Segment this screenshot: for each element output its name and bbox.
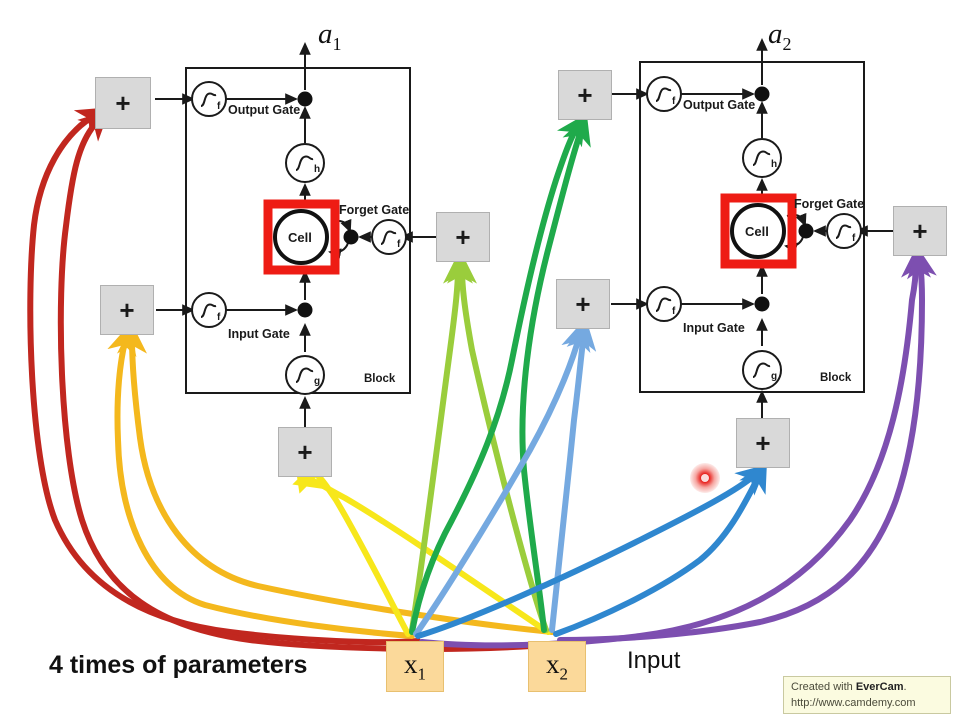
input-box-x2[interactable]: x2	[528, 641, 586, 692]
output-gate-1-circle	[192, 82, 226, 116]
plus-glyph: +	[297, 439, 312, 465]
input-gate-1-circle	[192, 293, 226, 327]
lstm-diagram-canvas: + + + + + + + + Output Gate Input Gate F…	[0, 0, 960, 720]
plus-glyph: +	[119, 297, 134, 323]
x1-sub: 1	[418, 664, 427, 683]
g-activation-2-circle	[743, 351, 781, 389]
plus-forget-gate-2[interactable]: +	[893, 206, 947, 256]
curve-x2-to-input-gate-1	[132, 338, 552, 632]
a2-base: a	[768, 18, 783, 50]
g-subscript-1: g	[314, 376, 320, 387]
plus-glyph: +	[912, 218, 927, 244]
plus-glyph: +	[115, 90, 130, 116]
plus-input-gate-2[interactable]: +	[556, 279, 610, 329]
plus-output-gate-1[interactable]: +	[95, 77, 151, 129]
watermark-url: http://www.camdemy.com	[791, 696, 944, 712]
watermark-brand: EverCam	[856, 681, 904, 693]
forget-gate-1-label: Forget Gate	[339, 203, 409, 217]
cell-1-label: Cell	[288, 230, 312, 245]
f-subscript-output-1: f	[217, 101, 220, 112]
input-gate-1-label: Input Gate	[228, 327, 290, 341]
block-2-label: Block	[820, 372, 851, 384]
input-text-label: Input	[627, 647, 680, 675]
input-box-x1[interactable]: x1	[386, 641, 444, 692]
block-1-label: Block	[364, 373, 395, 385]
plus-cell-input-1[interactable]: +	[278, 427, 332, 477]
f-subscript-forget-2: f	[852, 233, 855, 244]
laser-pointer-dot	[690, 463, 720, 493]
curve-x2-to-cell-input-2	[556, 474, 760, 634]
x2-sub: 2	[560, 664, 569, 683]
output-gate-2-circle	[647, 77, 681, 111]
x2-label: x2	[546, 649, 568, 684]
plus-glyph: +	[455, 224, 470, 250]
h-activation-1-circle	[286, 144, 324, 182]
plus-forget-gate-1[interactable]: +	[436, 212, 490, 262]
g-activation-1-circle	[286, 356, 324, 394]
plus-input-gate-1[interactable]: +	[100, 285, 154, 335]
h-activation-2-circle	[743, 139, 781, 177]
f-subscript-input-1: f	[217, 312, 220, 323]
watermark-suffix: .	[904, 681, 907, 693]
watermark-line-1: Created with EverCam.	[791, 680, 944, 696]
output-label-a2: a2	[768, 18, 792, 55]
x1-base: x	[404, 649, 418, 679]
plus-glyph: +	[577, 82, 592, 108]
f-subscript-forget-1: f	[397, 239, 400, 250]
input-gate-2-circle	[647, 287, 681, 321]
cell-2-label: Cell	[745, 224, 769, 239]
a1-base: a	[318, 18, 333, 50]
plus-output-gate-2[interactable]: +	[558, 70, 612, 120]
curve-x1-to-cell-input-1	[304, 472, 408, 634]
output-label-a1: a1	[318, 18, 342, 55]
curve-x1-to-output-gate-1	[30, 115, 418, 642]
forget-gate-2-circle	[827, 214, 861, 248]
g-subscript-2: g	[771, 371, 777, 382]
four-times-parameters-text: 4 times of parameters	[49, 651, 307, 680]
forget-gate-1-circle	[372, 220, 406, 254]
h-subscript-1: h	[314, 164, 320, 175]
plus-glyph: +	[575, 291, 590, 317]
a1-sub: 1	[333, 34, 342, 54]
x1-label: x1	[404, 649, 426, 684]
watermark-prefix: Created with	[791, 681, 856, 693]
input-gate-2-label: Input Gate	[683, 321, 745, 335]
evercam-watermark: Created with EverCam. http://www.camdemy…	[783, 676, 951, 714]
curve-x2-to-output-gate-2	[522, 128, 582, 630]
curve-x1-to-output-gate-2	[412, 126, 578, 632]
x2-base: x	[546, 649, 560, 679]
f-subscript-output-2: f	[672, 96, 675, 107]
forget-gate-2-label: Forget Gate	[794, 197, 864, 211]
output-gate-2-label: Output Gate	[683, 98, 755, 112]
f-subscript-input-2: f	[672, 306, 675, 317]
a2-sub: 2	[783, 34, 792, 54]
h-subscript-2: h	[771, 159, 777, 170]
plus-cell-input-2[interactable]: +	[736, 418, 790, 468]
output-gate-1-label: Output Gate	[228, 103, 300, 117]
plus-glyph: +	[755, 430, 770, 456]
